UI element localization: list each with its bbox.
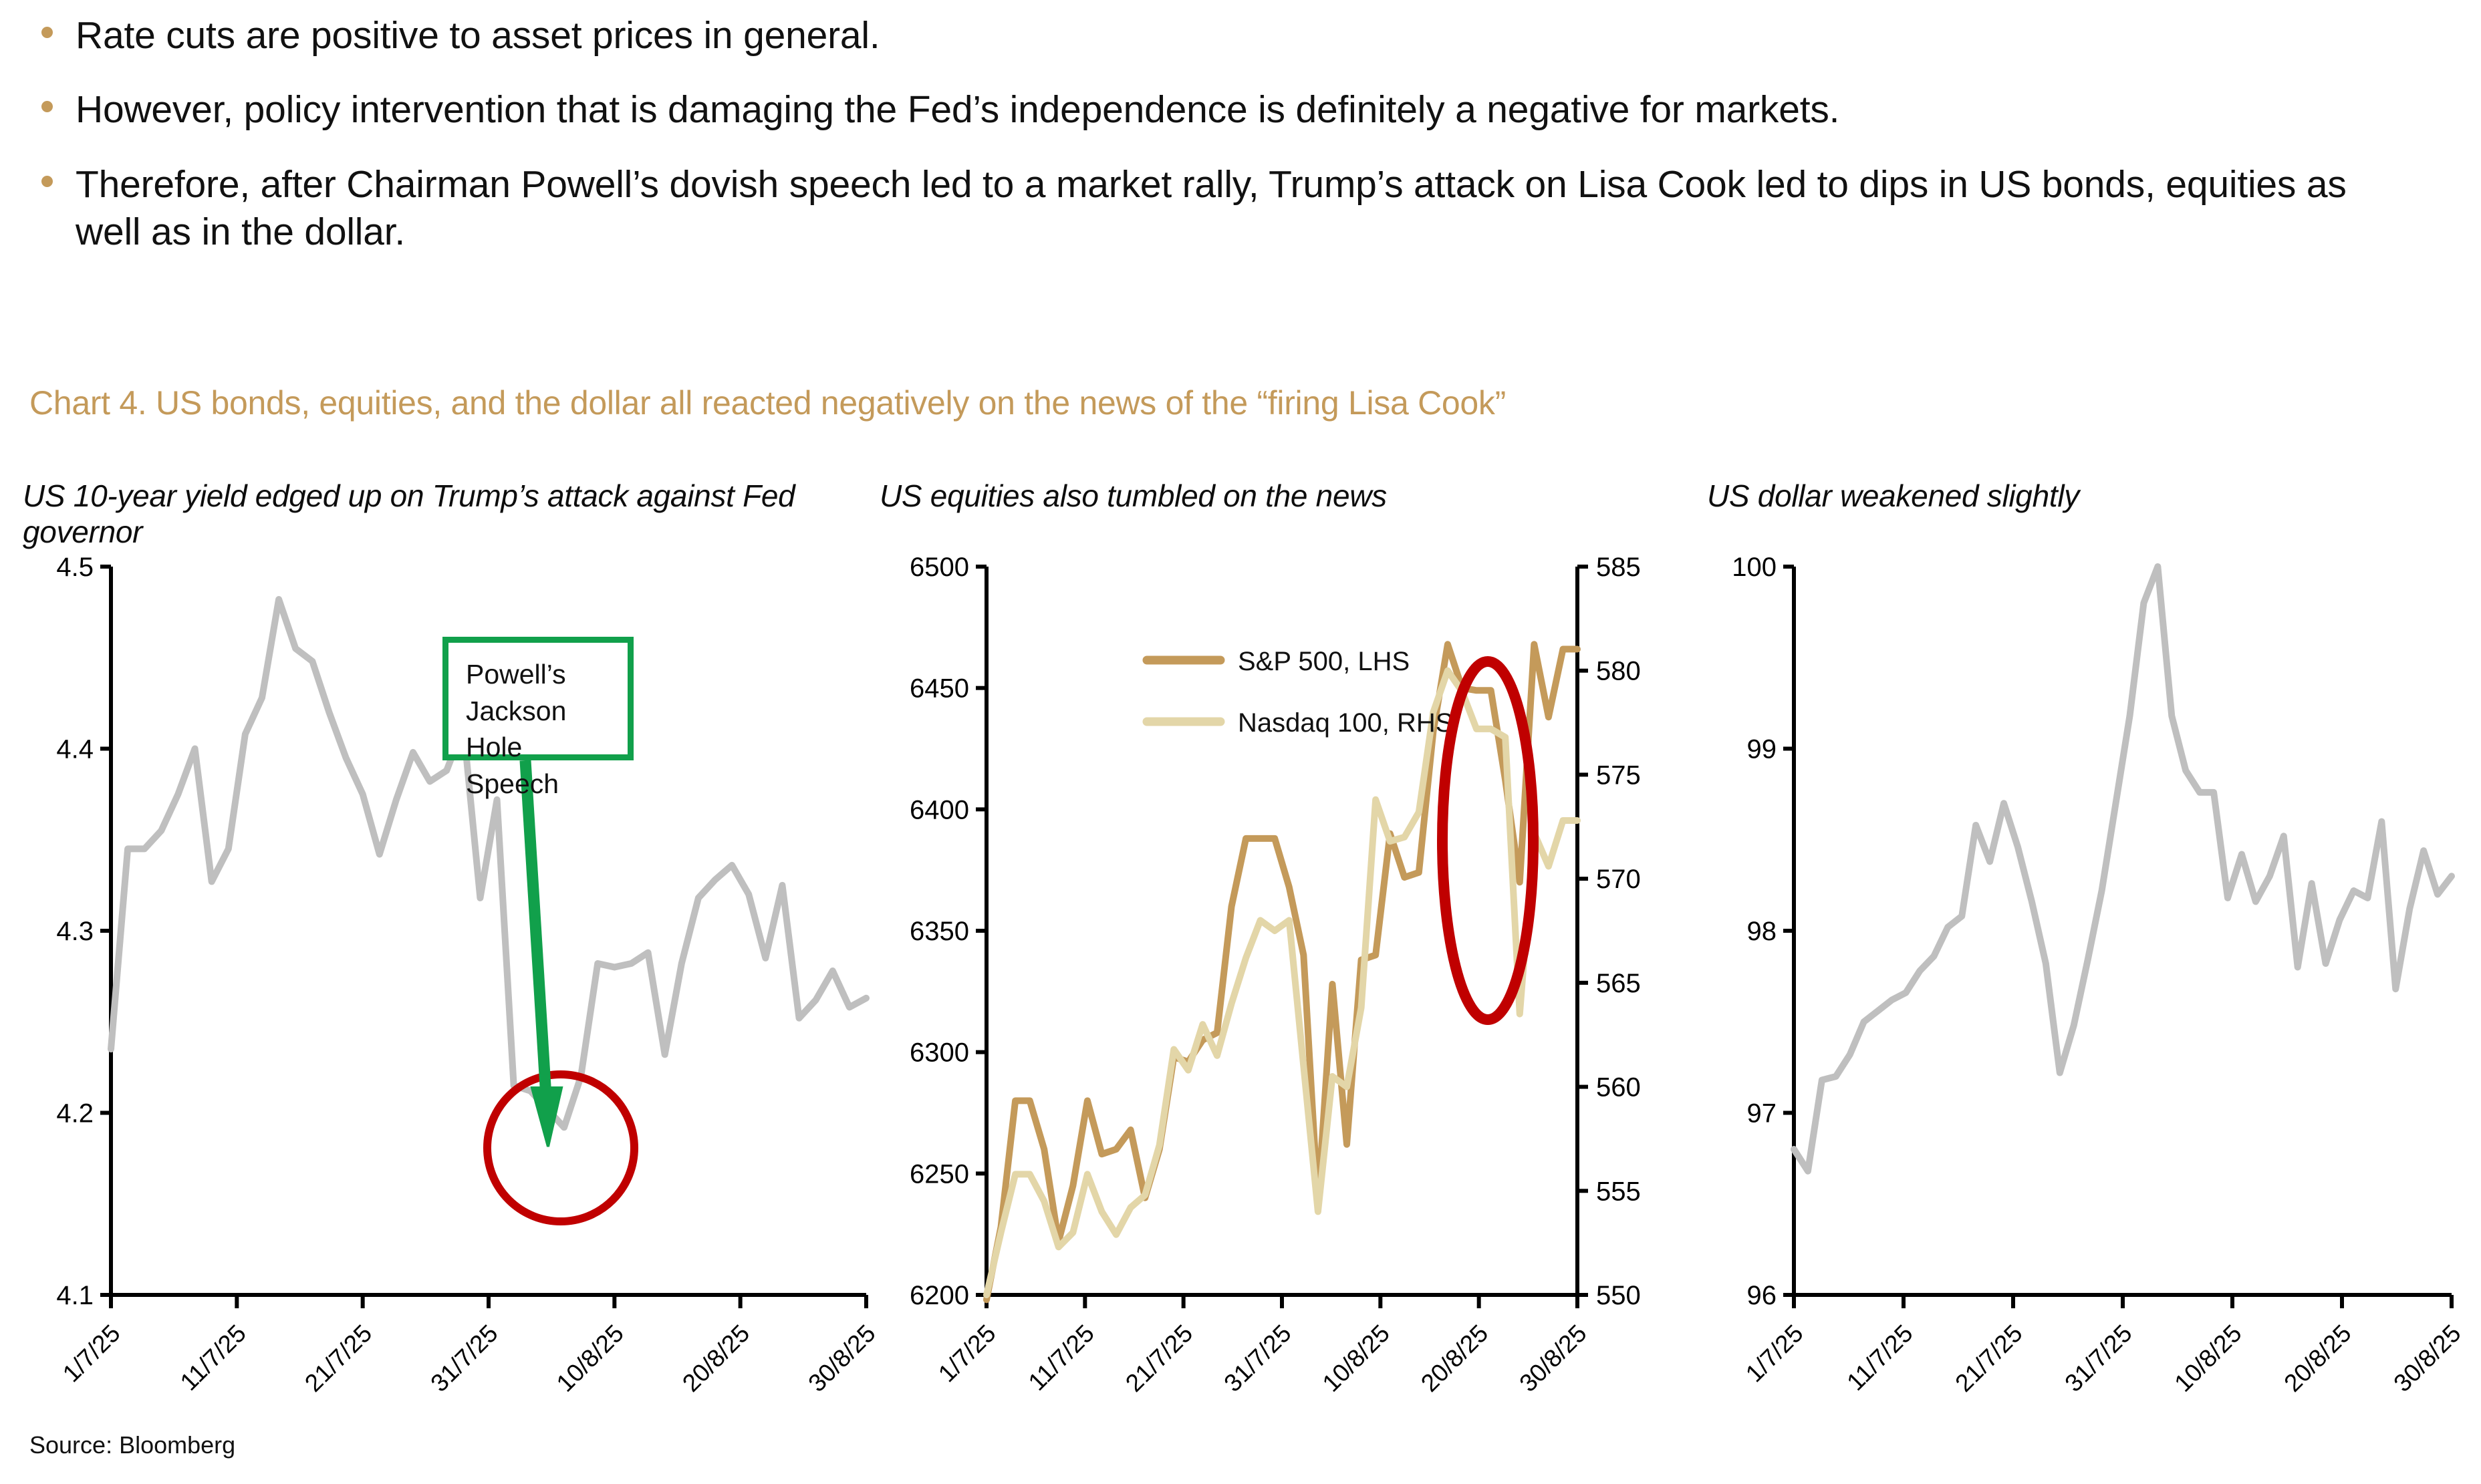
annotation-line-3: Speech [466,766,628,802]
x-axis-tick-label: 11/7/25 [1023,1320,1099,1396]
chart-panel-us10y: US 10-year yield edged up on Trump’s att… [23,478,892,1469]
chart-section-title: Chart 4. US bonds, equities, and the dol… [29,384,1506,422]
y-axis-right-tick-label: 560 [1596,1073,1641,1102]
powell-annotation-text: Powell’s Jackson Hole Speech [448,643,628,802]
annotation-line-2: Jackson Hole [466,693,628,766]
x-axis-tick-label: 11/7/25 [175,1320,251,1396]
y-axis-right-tick-label: 550 [1596,1281,1641,1310]
x-axis-tick-label: 10/8/25 [551,1320,629,1397]
y-axis-tick-label: 4.4 [56,735,94,764]
series-line-us-dollar-index [1794,567,2452,1171]
panel-subtitle: US equities also tumbled on the news [880,478,1708,553]
y-axis-right-tick-label: 585 [1596,553,1641,582]
y-axis-right-tick-label: 555 [1596,1177,1641,1206]
y-axis-tick-label: 6200 [910,1281,969,1310]
x-axis-tick-label: 21/7/25 [1120,1320,1198,1397]
list-item: Rate cuts are positive to asset prices i… [27,12,2433,59]
x-axis-tick-label: 1/7/25 [1740,1320,1809,1388]
y-axis-tick-label: 97 [1747,1099,1777,1129]
y-axis-tick-label: 98 [1747,917,1777,946]
powell-annotation-box: Powell’s Jackson Hole Speech [442,637,634,760]
bullet-dot-icon [41,27,53,38]
x-axis-tick-label: 30/8/25 [803,1320,880,1397]
bullet-text: However, policy intervention that is dam… [76,86,1839,134]
series-line-nasdaq-100-rhs [987,671,1577,1295]
source-note: Source: Bloomberg [29,1431,235,1459]
y-axis-tick-label: 4.1 [56,1281,94,1310]
x-axis-tick-label: 20/8/25 [2278,1320,2356,1397]
x-axis-tick-label: 11/7/25 [1841,1320,1918,1396]
legend-label: Nasdaq 100, RHS [1238,708,1453,738]
list-item: However, policy intervention that is dam… [27,86,2433,134]
x-axis-tick-label: 1/7/25 [57,1320,126,1388]
y-axis-right-tick-label: 570 [1596,865,1641,894]
x-axis-tick-label: 30/8/25 [1514,1320,1591,1397]
x-axis-tick-label: 10/8/25 [2169,1320,2246,1397]
chart-panel-us-dollar: US dollar weakened slightly 969798991001… [1707,478,2476,1469]
y-axis-right-tick-label: 575 [1596,760,1641,790]
bullet-dot-icon [41,176,53,187]
y-axis-tick-label: 6400 [910,795,969,825]
us-equities-plot: 6200625063006350640064506500550555560565… [880,560,1708,1469]
y-axis-tick-label: 96 [1747,1281,1777,1310]
y-axis-tick-label: 6500 [910,553,969,582]
chart-panel-us-equities: US equities also tumbled on the news 620… [880,478,1708,1469]
x-axis-tick-label: 1/7/25 [933,1320,1001,1388]
y-axis-right-tick-label: 565 [1596,969,1641,998]
panel-subtitle: US 10-year yield edged up on Trump’s att… [23,478,892,553]
y-axis-tick-label: 6300 [910,1038,969,1068]
x-axis-tick-label: 21/7/25 [299,1320,377,1397]
y-axis-tick-label: 6450 [910,674,969,704]
y-axis-right-tick-label: 580 [1596,657,1641,686]
annotation-arrow-shaft-icon [525,760,547,1108]
legend-label: S&P 500, LHS [1238,647,1410,676]
x-axis-tick-label: 31/7/25 [425,1320,503,1397]
x-axis-tick-label: 10/8/25 [1317,1320,1395,1397]
bullet-text: Therefore, after Chairman Powell’s dovis… [76,161,2401,257]
y-axis-tick-label: 6350 [910,917,969,946]
panel-subtitle: US dollar weakened slightly [1707,478,2476,553]
y-axis-tick-label: 4.3 [56,917,94,946]
y-axis-tick-label: 4.2 [56,1099,94,1129]
x-axis-tick-label: 20/8/25 [1416,1320,1493,1397]
annotation-line-1: Powell’s [466,656,628,693]
bullet-dot-icon [41,101,53,112]
bullet-list: Rate cuts are positive to asset prices i… [27,12,2433,283]
y-axis-tick-label: 4.5 [56,553,94,582]
us-dollar-plot: 969798991001/7/2511/7/2521/7/2531/7/2510… [1707,560,2476,1469]
y-axis-tick-label: 6250 [910,1159,969,1189]
x-axis-tick-label: 21/7/25 [1950,1320,2027,1397]
y-axis-tick-label: 99 [1747,735,1777,764]
series-line-s-p-500-lhs [987,644,1577,1300]
x-axis-tick-label: 31/7/25 [2059,1320,2137,1397]
x-axis-tick-label: 31/7/25 [1218,1320,1296,1397]
list-item: Therefore, after Chairman Powell’s dovis… [27,161,2433,257]
x-axis-tick-label: 20/8/25 [677,1320,755,1397]
bullet-text: Rate cuts are positive to asset prices i… [76,12,880,59]
x-axis-tick-label: 30/8/25 [2388,1320,2466,1397]
y-axis-tick-label: 100 [1732,553,1777,582]
